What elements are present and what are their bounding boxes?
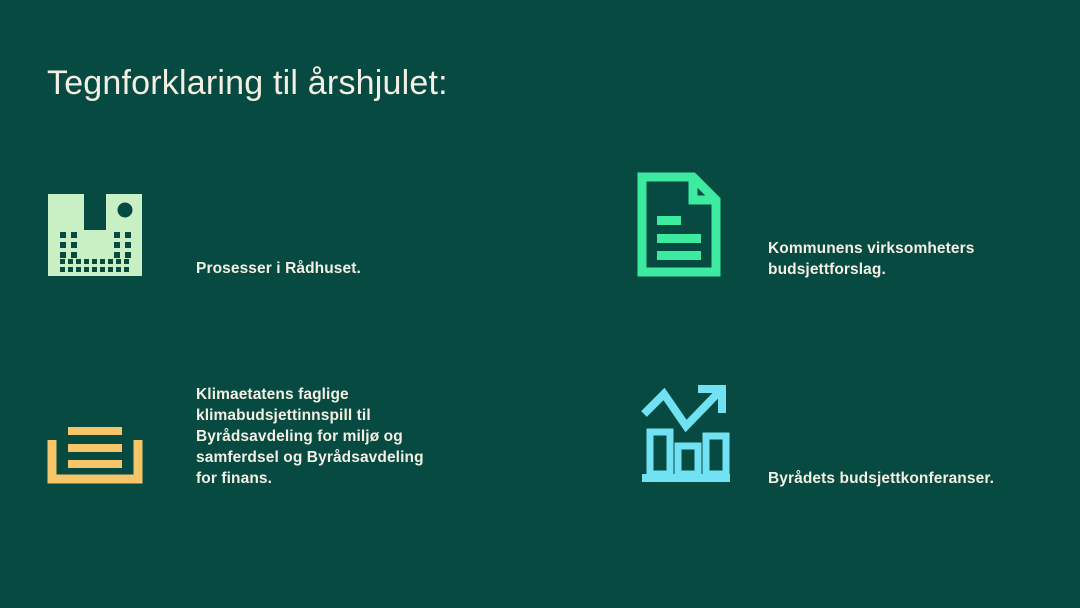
legend-label-klimaetaten: Klimaetatens faglige klimabudsjettinnspi… (196, 384, 486, 489)
legend-label-line: Prosesser i Rådhuset. (196, 258, 516, 279)
legend-label-line: Byrådsavdeling for miljø og (196, 426, 486, 447)
legend-label-line: klimabudsjettinnspill til (196, 405, 486, 426)
document-page-icon (637, 172, 721, 277)
legend-label-rådhuset: Prosesser i Rådhuset. (196, 258, 516, 279)
legend-label-line: Klimaetatens faglige (196, 384, 486, 405)
legend-label-budsjettkonferanser: Byrådets budsjettkonferanser. (768, 468, 1058, 489)
city-hall-building-icon (48, 194, 142, 276)
legend-label-line: samferdsel og Byrådsavdeling (196, 447, 486, 468)
inbox-tray-icon (47, 424, 143, 484)
page-title: Tegnforklaring til årshjulet: (47, 64, 448, 103)
legend-label-line: Kommunens virksomheters (768, 238, 1028, 259)
growth-bar-chart-icon (640, 384, 732, 484)
slide-canvas: Tegnforklaring til årshjulet: (0, 0, 1080, 608)
legend-label-budsjettforslag: Kommunens virksomheters budsjettforslag. (768, 238, 1028, 280)
legend-label-line: for finans. (196, 468, 486, 489)
legend-label-line: budsjettforslag. (768, 259, 1028, 280)
legend-label-line: Byrådets budsjettkonferanser. (768, 468, 1058, 489)
